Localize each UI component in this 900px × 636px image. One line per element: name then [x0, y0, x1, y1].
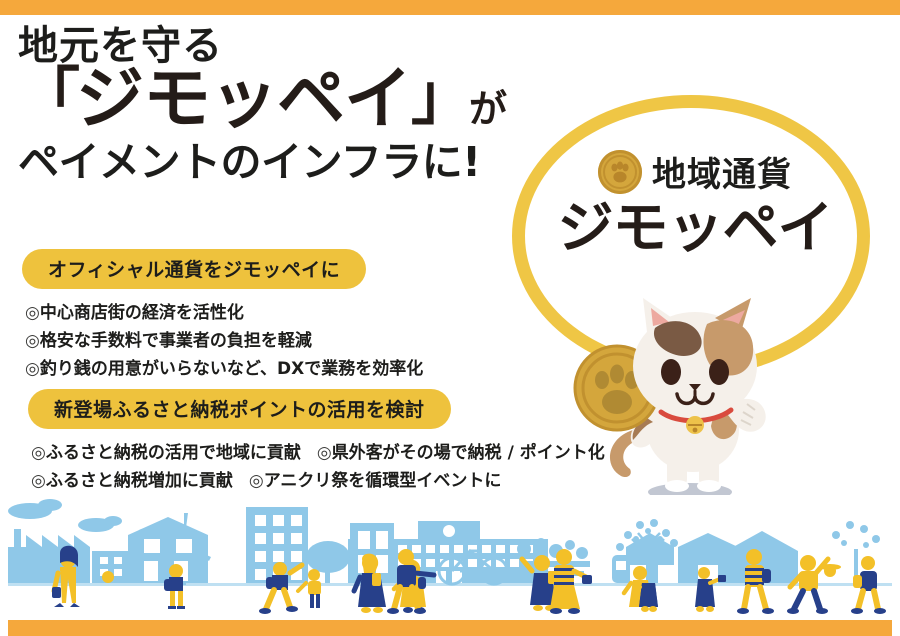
logo-top-row: 地域通貨 [540, 147, 850, 196]
list-item: ◎釣り銭の用意がいらないなど、DXで業務を効率化 [25, 355, 423, 383]
logo-text-group: 地域通貨 ジモッペイ [540, 147, 850, 259]
stripes [745, 568, 764, 585]
city-scene [8, 495, 892, 620]
calico-cat-mascot [555, 280, 855, 515]
clock-icon [443, 525, 455, 537]
city-illustration-band [8, 495, 892, 620]
poster-canvas: 地元を守る 「ジモッペイ」が ペイメントのインフラに! オフィシャル通貨をジモッ… [0, 0, 900, 636]
logo-label: 地域通貨 [652, 147, 792, 196]
bullet-mark-icon: ◎ [31, 443, 46, 463]
section-1-heading: オフィシャル通貨をジモッペイに [22, 249, 366, 289]
cat-eye-left [661, 359, 681, 385]
list-item: ◎中心商店街の経済を活性化 [25, 299, 423, 327]
bullet-mark-icon: ◎ [317, 443, 332, 463]
bullet-mark-icon: ◎ [31, 471, 46, 491]
section-1-bullets: ◎中心商店街の経済を活性化 ◎格安な手数料で事業者の負担を軽減 ◎釣り銭の用意が… [25, 299, 423, 383]
cat-eye-right [709, 359, 729, 385]
open-bracket: 「 [18, 60, 76, 133]
bullet-mark-icon: ◎ [25, 303, 40, 323]
list-item-label: 釣り銭の用意がいらないなど、DXで業務を効率化 [40, 359, 423, 379]
headline-line-2: 「ジモッペイ」が [18, 66, 538, 134]
close-bracket: 」 [411, 60, 469, 133]
cat-foot-right [697, 480, 721, 492]
list-item: ◎格安な手数料で事業者の負担を軽減 [25, 327, 423, 355]
section-2-heading: 新登場ふるさと納税ポイントの活用を検討 [28, 389, 451, 429]
bottom-accent-bar [8, 620, 892, 636]
list-item-label: アニクリ祭を循環型イベントに [264, 471, 502, 491]
list-item-label: 格安な手数料で事業者の負担を軽減 [40, 331, 312, 351]
bullet-mark-icon: ◎ [25, 359, 40, 379]
person-figure [819, 564, 841, 577]
paw-coin-icon [598, 150, 642, 194]
list-item-label: ふるさと納税の活用で地域に貢献 [46, 443, 301, 463]
logo-brand-name: ジモッペイ [540, 200, 850, 259]
paw-print-icon [598, 150, 642, 194]
cloud-icon [38, 499, 62, 511]
brand-logo-block: 地域通貨 ジモッペイ [500, 95, 900, 515]
bullet-mark-icon: ◎ [249, 471, 264, 491]
cat-foot-left [665, 480, 689, 492]
cloud-icon [104, 516, 122, 526]
brand-name-large: ジモッペイ [76, 60, 411, 139]
top-accent-bar [0, 0, 900, 15]
bell-hole [693, 428, 698, 433]
section-official-currency: オフィシャル通貨をジモッペイに ◎中心商店街の経済を活性化 ◎格安な手数料で事業… [22, 249, 423, 383]
factory-chimney [14, 529, 21, 549]
headline-line-3: ペイメントのインフラに! [18, 140, 538, 185]
stripes [554, 568, 574, 585]
person-figure [550, 549, 592, 614]
list-item-label: ふるさと納税増加に貢献 [46, 471, 233, 491]
bullet-mark-icon: ◎ [25, 331, 40, 351]
list-item-label: 中心商店街の経済を活性化 [40, 303, 244, 323]
house-building [128, 517, 208, 583]
headline-block: 地元を守る 「ジモッペイ」が ペイメントのインフラに! [18, 24, 538, 185]
